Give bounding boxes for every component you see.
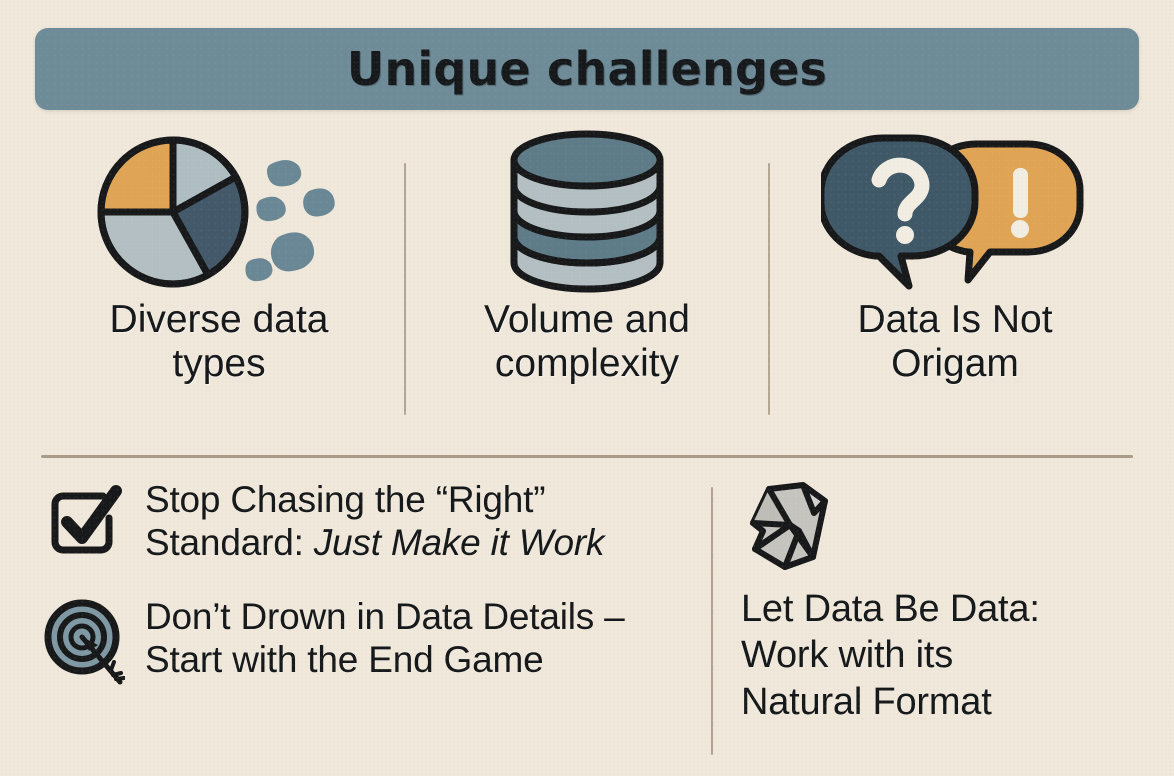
slide-canvas: Unique challenges	[0, 0, 1174, 776]
title-banner: Unique challenges	[35, 28, 1139, 110]
takeaway-item: Stop Chasing the “Right” Standard: Just …	[41, 478, 696, 565]
takeaway-line-2: Work with its	[741, 632, 1133, 678]
pie-chart-icon	[94, 126, 344, 298]
challenge-caption: Diverse data types	[110, 298, 329, 386]
target-arrow-icon	[41, 595, 127, 685]
takeaway-line-3: Natural Format	[741, 679, 1133, 725]
takeaways-left-column: Stop Chasing the “Right” Standard: Just …	[41, 476, 696, 685]
caption-line-1: Volume and	[484, 298, 690, 342]
takeaways-section: Stop Chasing the “Right” Standard: Just …	[41, 476, 1133, 766]
database-cylinder-icon	[492, 126, 682, 298]
speech-bubbles-icon	[821, 126, 1089, 298]
column-divider	[768, 163, 770, 415]
caption-line-2: Origam	[857, 342, 1052, 386]
takeaways-right-column: Let Data Be Data: Work with its Natural …	[741, 468, 1133, 725]
takeaway-item: Don’t Drown in Data Details – Start with…	[41, 595, 696, 685]
challenge-caption: Data Is Not Origam	[857, 298, 1052, 386]
challenge-caption: Volume and complexity	[484, 298, 690, 386]
challenge-column-data-is-not-origam: Data Is Not Origam	[771, 126, 1139, 426]
checkbox-checked-icon	[41, 478, 127, 558]
takeaway-text-italic: Just Make it Work	[314, 522, 605, 563]
caption-line-2: complexity	[484, 342, 690, 386]
question-bubble-icon	[821, 138, 975, 286]
takeaway-text: Let Data Be Data: Work with its Natural …	[741, 586, 1133, 725]
takeaway-line-1: Let Data Be Data:	[741, 586, 1133, 632]
caption-line-1: Data Is Not	[857, 298, 1052, 342]
takeaways-divider	[711, 487, 713, 755]
takeaway-text-plain: Don’t Drown in Data Details – Start with…	[145, 596, 625, 680]
section-divider	[41, 455, 1133, 458]
page-title: Unique challenges	[347, 42, 827, 96]
takeaway-text: Don’t Drown in Data Details – Start with…	[145, 595, 696, 682]
data-dots	[245, 160, 334, 281]
caption-line-1: Diverse data	[110, 298, 329, 342]
column-divider	[404, 163, 406, 415]
takeaway-text: Stop Chasing the “Right” Standard: Just …	[145, 478, 696, 565]
challenge-column-volume-and-complexity: Volume and complexity	[403, 126, 771, 426]
challenge-column-diverse-data-types: Diverse data types	[35, 126, 403, 426]
caption-line-2: types	[110, 342, 329, 386]
challenges-row: Diverse data types	[35, 126, 1139, 426]
origami-paper-icon	[741, 468, 1133, 586]
